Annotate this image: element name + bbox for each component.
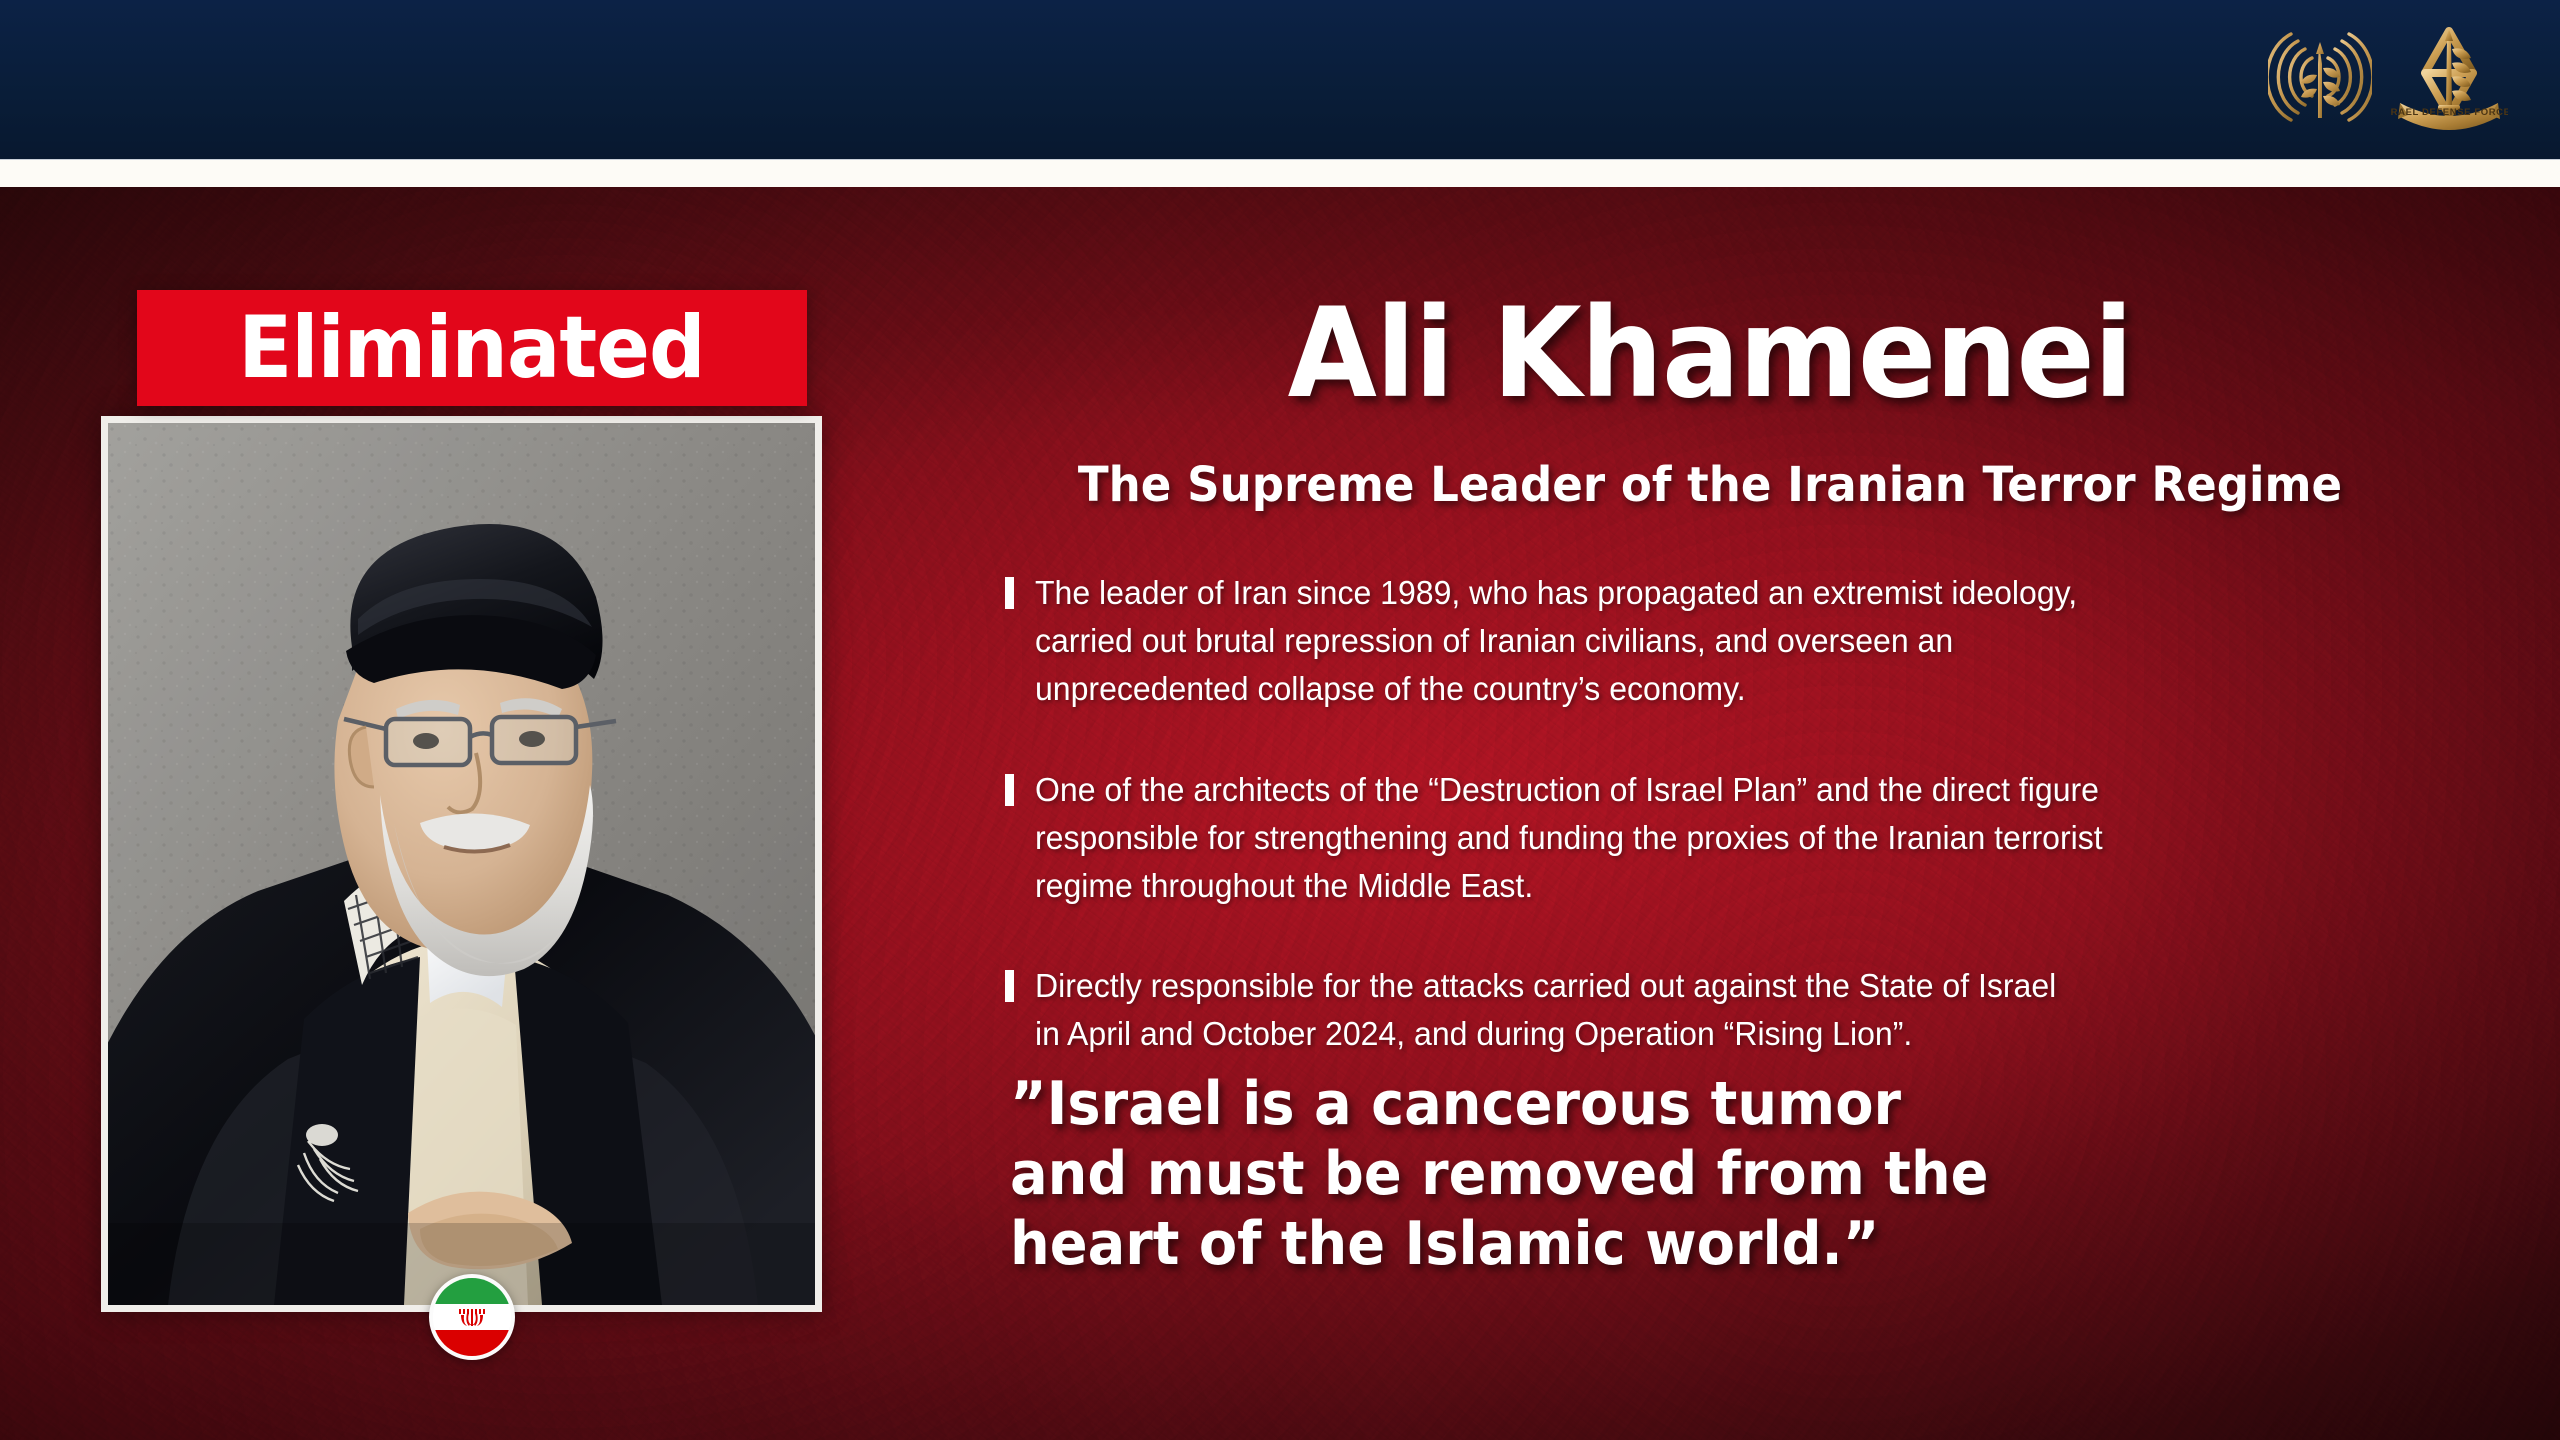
idf-spokesperson-unit-emblem: [2268, 20, 2372, 140]
list-item: One of the architects of the “Destructio…: [1005, 766, 2475, 911]
bullet-text: One of the architects of the “Destructio…: [1035, 766, 2432, 911]
idf-ribbon-text: ISRAEL DEFENSE FORCES: [2390, 107, 2508, 118]
portrait-photo: [108, 423, 815, 1305]
content-panel: Ali Khamenei The Supreme Leader of the I…: [880, 187, 2560, 1440]
bullet-marker-icon: [1005, 774, 1014, 806]
portrait-frame: [101, 416, 822, 1312]
emblem-group: ISRAEL DEFENSE FORCES: [2268, 0, 2508, 159]
poster-root: ISRAEL DEFENSE FORCES: [0, 0, 2560, 1440]
idf-emblem: ISRAEL DEFENSE FORCES: [2390, 19, 2508, 141]
list-item: Directly responsible for the attacks car…: [1005, 962, 2475, 1058]
header-divider: [0, 159, 2560, 187]
list-item: The leader of Iran since 1989, who has p…: [1005, 569, 2475, 714]
pull-quote: ”Israel is a cancerous tumor and must be…: [1010, 1069, 2359, 1280]
bullet-text: Directly responsible for the attacks car…: [1035, 962, 2432, 1058]
page-subtitle: The Supreme Leader of the Iranian Terror…: [930, 459, 2490, 512]
header-bar: ISRAEL DEFENSE FORCES: [0, 0, 2560, 159]
page-title: Ali Khamenei: [938, 292, 2482, 416]
bullet-text: The leader of Iran since 1989, who has p…: [1035, 569, 2432, 714]
bullet-marker-icon: [1005, 970, 1014, 1002]
eliminated-badge: Eliminated: [137, 290, 807, 406]
eliminated-badge-label: Eliminated: [239, 305, 705, 391]
bullet-marker-icon: [1005, 577, 1014, 609]
iran-flag-badge: [429, 1274, 515, 1360]
bullet-list: The leader of Iran since 1989, who has p…: [1005, 569, 2475, 1058]
